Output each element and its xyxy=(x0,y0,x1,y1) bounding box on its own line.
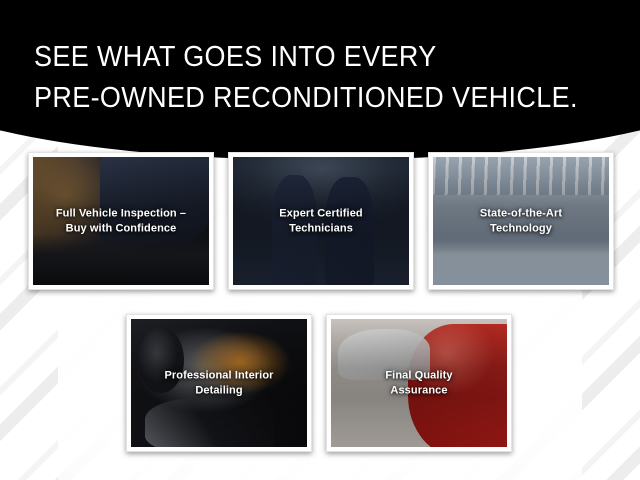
feature-card-label: Final Quality Assurance xyxy=(335,368,503,397)
feature-card-final-quality-assurance[interactable]: Final Quality Assurance xyxy=(326,314,512,452)
feature-card-label: Professional Interior Detailing xyxy=(135,368,303,397)
feature-card-label: Full Vehicle Inspection – Buy with Confi… xyxy=(37,206,205,235)
card-photo: Full Vehicle Inspection – Buy with Confi… xyxy=(33,157,209,285)
feature-card-professional-interior-detailing[interactable]: Professional Interior Detailing xyxy=(126,314,312,452)
card-photo: Professional Interior Detailing xyxy=(131,319,307,447)
feature-card-label: Expert Certified Technicians xyxy=(237,206,405,235)
card-photo: Final Quality Assurance xyxy=(331,319,507,447)
feature-card-grid: Full Vehicle Inspection – Buy with Confi… xyxy=(0,0,640,480)
feature-card-state-of-the-art-technology[interactable]: State-of-the-Art Technology xyxy=(428,152,614,290)
card-photo: State-of-the-Art Technology xyxy=(433,157,609,285)
promo-slide: SEE WHAT GOES INTO EVERY PRE-OWNED RECON… xyxy=(0,0,640,480)
card-photo: Expert Certified Technicians xyxy=(233,157,409,285)
feature-card-full-vehicle-inspection[interactable]: Full Vehicle Inspection – Buy with Confi… xyxy=(28,152,214,290)
feature-card-label: State-of-the-Art Technology xyxy=(437,206,605,235)
feature-card-expert-certified-technicians[interactable]: Expert Certified Technicians xyxy=(228,152,414,290)
